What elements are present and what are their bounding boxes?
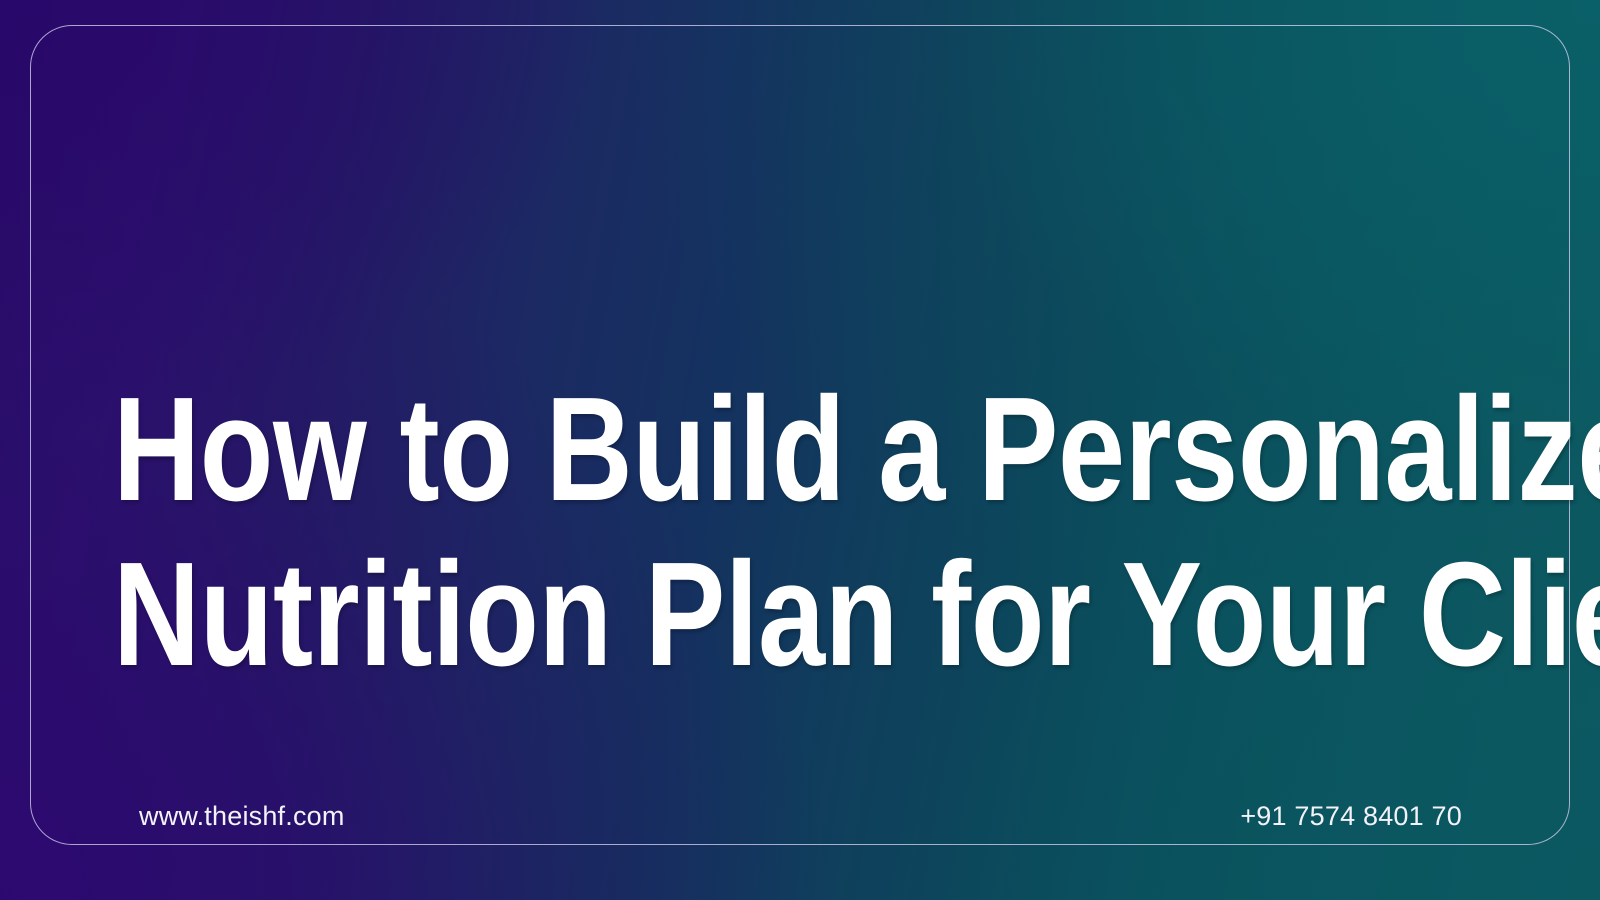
page-title: How to Build a Personalized Nutrition Pl… [113,367,1254,697]
page-title-line-1: How to Build a Personalized [113,367,1254,532]
phone-number: +91 7574 8401 70 [1240,801,1462,832]
slide-canvas: How to Build a Personalized Nutrition Pl… [0,0,1600,900]
website-url: www.theishf.com [139,801,345,832]
page-title-line-2: Nutrition Plan for Your Clients [113,532,1254,697]
